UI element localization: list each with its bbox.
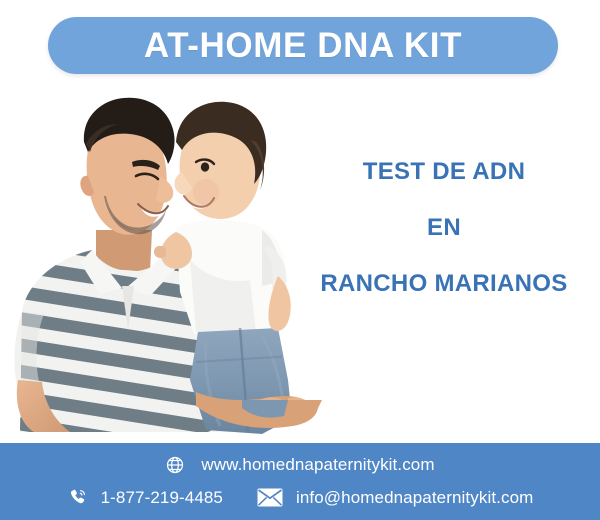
family-photo xyxy=(0,80,320,455)
photo-footer-overlap xyxy=(196,400,326,460)
globe-icon xyxy=(165,455,185,475)
footer-phone-text[interactable]: 1-877-219-4485 xyxy=(101,488,223,508)
headline-block: TEST DE ADN EN RANCHO MARIANOS xyxy=(300,160,588,296)
photo-overlap-illustration xyxy=(196,400,326,460)
page-title: AT-HOME DNA KIT xyxy=(144,28,462,63)
footer-email-text[interactable]: info@homednapaternitykit.com xyxy=(296,488,533,508)
header-banner: AT-HOME DNA KIT xyxy=(48,17,558,74)
headline-line-2: EN xyxy=(300,216,588,240)
poster-canvas: AT-HOME DNA KIT xyxy=(0,0,600,520)
footer-contact-row: 1-877-219-4485 info@homednapaternitykit.… xyxy=(0,487,600,508)
phone-icon xyxy=(67,487,88,508)
family-photo-illustration xyxy=(0,80,320,455)
headline-line-3: RANCHO MARIANOS xyxy=(300,272,588,296)
envelope-icon xyxy=(257,488,283,507)
headline-line-1: TEST DE ADN xyxy=(300,160,588,184)
